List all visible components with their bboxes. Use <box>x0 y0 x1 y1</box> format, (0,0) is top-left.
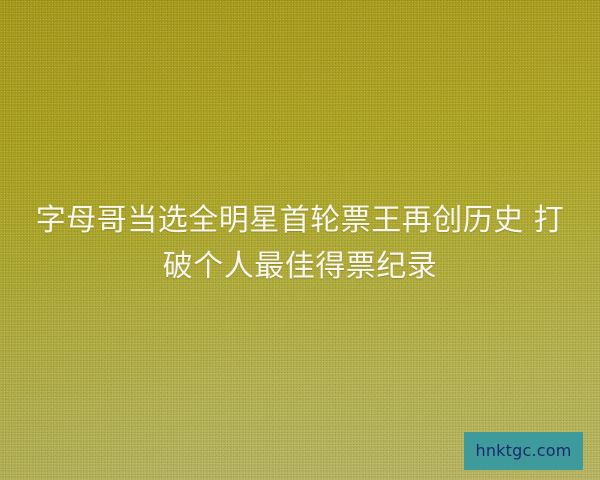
watermark-badge: hnktgc.com <box>464 432 583 470</box>
headline-block: 字母哥当选全明星首轮票王再创历史 打破个人最佳得票纪录 <box>0 198 600 290</box>
thumbnail-canvas: 字母哥当选全明星首轮票王再创历史 打破个人最佳得票纪录 hnktgc.com <box>0 0 600 480</box>
watermark-label: hnktgc.com <box>475 443 571 459</box>
headline-text: 字母哥当选全明星首轮票王再创历史 打破个人最佳得票纪录 <box>26 198 574 290</box>
